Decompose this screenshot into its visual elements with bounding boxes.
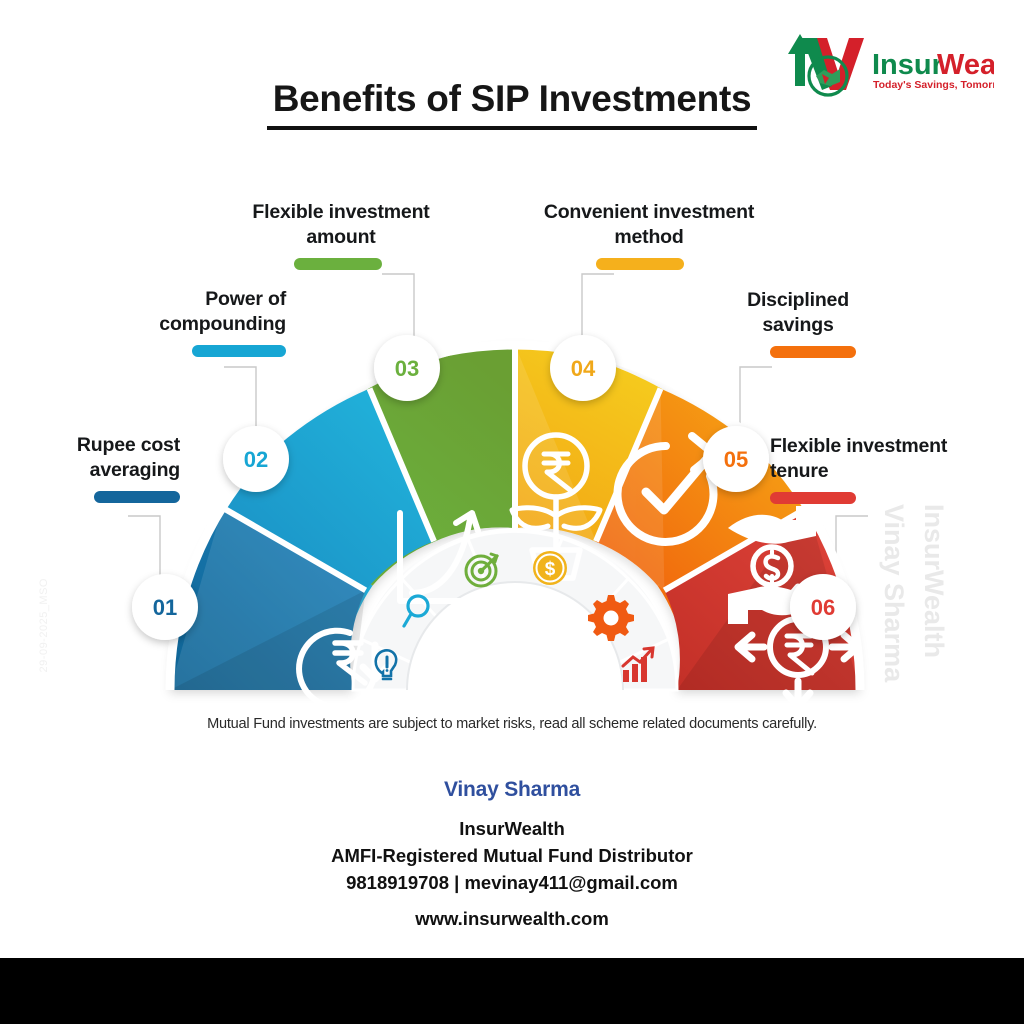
footer-contact: 9818919708 | mevinay411@gmail.com (0, 870, 1024, 897)
page-title: Benefits of SIP Investments (267, 78, 758, 130)
benefit-label-05-line1: Disciplined (716, 288, 880, 313)
dollar-coin-icon: $ (533, 551, 567, 585)
benefit-label-03: Flexible investment amount (222, 200, 460, 270)
benefit-label-01-line1: Rupee cost (10, 433, 180, 458)
footer-company: InsurWealth (0, 816, 1024, 843)
sip-benefits-wheel: $ (110, 330, 920, 720)
benefit-pill-01 (94, 491, 180, 503)
badge-label-04: 04 (571, 356, 596, 381)
benefit-label-02-line1: Power of (88, 287, 286, 312)
watermark-brand: InsurWealth (918, 504, 949, 658)
footer-contact-block: Vinay Sharma InsurWealth AMFI-Registered… (0, 778, 1024, 930)
svg-text:Insur: Insur (872, 49, 943, 81)
svg-text:Wealth: Wealth (937, 49, 994, 81)
benefit-label-01-line2: averaging (10, 458, 180, 483)
letterbox-bar (0, 958, 1024, 1024)
benefit-pill-06 (770, 492, 856, 504)
disclaimer-text: Mutual Fund investments are subject to m… (0, 716, 1024, 732)
watermark-advisor-name: Vinay Sharma (878, 504, 909, 682)
infographic-canvas: Insur Wealth Today's Savings, Tomorrow's… (0, 0, 1024, 1024)
benefit-label-05-line2: savings (716, 313, 880, 338)
badge-label-01: 01 (153, 595, 177, 620)
benefit-label-06-line1: Flexible investment (770, 434, 1008, 459)
footer-website[interactable]: www.insurwealth.com (0, 908, 1024, 930)
benefit-label-03-line1: Flexible investment (222, 200, 460, 225)
badge-label-06: 06 (811, 595, 835, 620)
benefit-pill-02 (192, 345, 286, 357)
benefit-pill-03 (294, 258, 382, 270)
page-title-wrap: Benefits of SIP Investments (0, 78, 1024, 130)
benefit-label-06: Flexible investment tenure (770, 434, 1008, 504)
benefit-label-01: Rupee cost averaging (10, 433, 180, 503)
footer-advisor-name: Vinay Sharma (0, 778, 1024, 802)
footer-role: AMFI-Registered Mutual Fund Distributor (0, 843, 1024, 870)
benefit-pill-04 (596, 258, 684, 270)
benefit-label-06-line2: tenure (770, 459, 1008, 484)
benefit-label-04: Convenient investment method (508, 200, 790, 270)
benefit-label-04-line1: Convenient investment (508, 200, 790, 225)
benefit-label-02-line2: compounding (88, 312, 286, 337)
badge-label-05: 05 (724, 447, 748, 472)
benefit-label-03-line2: amount (222, 225, 460, 250)
badge-label-02: 02 (244, 447, 268, 472)
badge-label-03: 03 (395, 356, 419, 381)
benefit-label-05: Disciplined savings (716, 288, 880, 358)
watermark-date-code: 29-09-2025_MSO (38, 578, 50, 672)
benefit-pill-05 (770, 346, 856, 358)
benefit-label-04-line2: method (508, 225, 790, 250)
benefit-label-02: Power of compounding (88, 287, 286, 357)
svg-text:$: $ (545, 559, 556, 580)
